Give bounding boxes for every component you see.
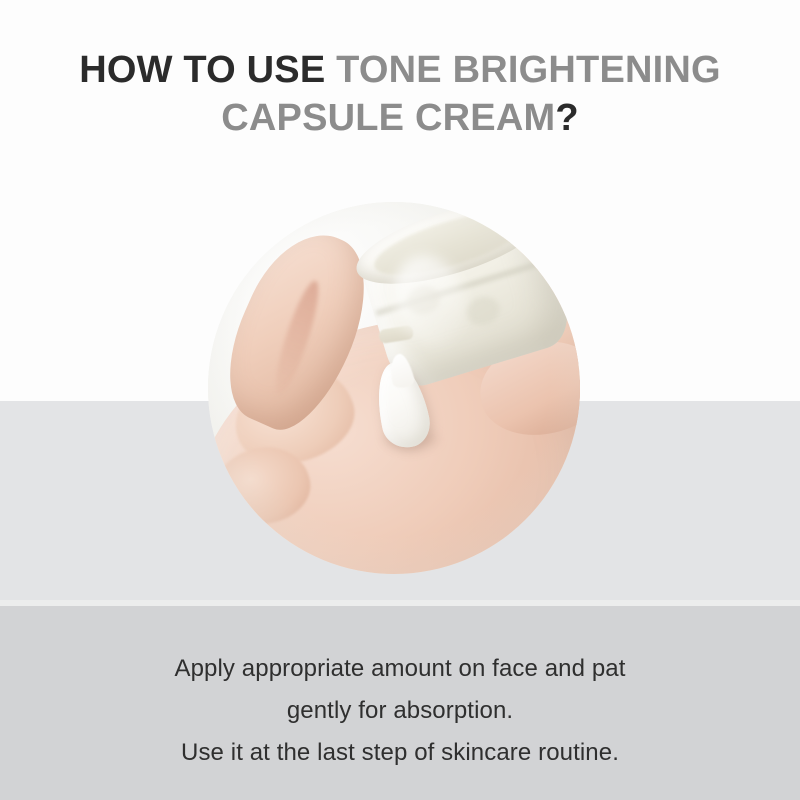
usage-photo-circle	[208, 202, 580, 574]
instruction-line-3: Use it at the last step of skincare rout…	[0, 732, 800, 774]
instruction-line-1: Apply appropriate amount on face and pat	[0, 648, 800, 690]
title-product-line2: CAPSULE CREAM	[221, 97, 555, 139]
page-title: HOW TO USE TONE BRIGHTENING CAPSULE CREA…	[0, 46, 800, 142]
title-question-mark: ?	[555, 97, 578, 139]
photo-backdrop	[208, 202, 580, 574]
title-prefix: HOW TO USE	[79, 49, 325, 91]
instruction-graphic-canvas: HOW TO USE TONE BRIGHTENING CAPSULE CREA…	[0, 0, 800, 800]
usage-instructions: Apply appropriate amount on face and pat…	[0, 648, 800, 774]
title-product-line1: TONE BRIGHTENING	[336, 49, 721, 91]
instruction-line-2: gently for absorption.	[0, 690, 800, 732]
